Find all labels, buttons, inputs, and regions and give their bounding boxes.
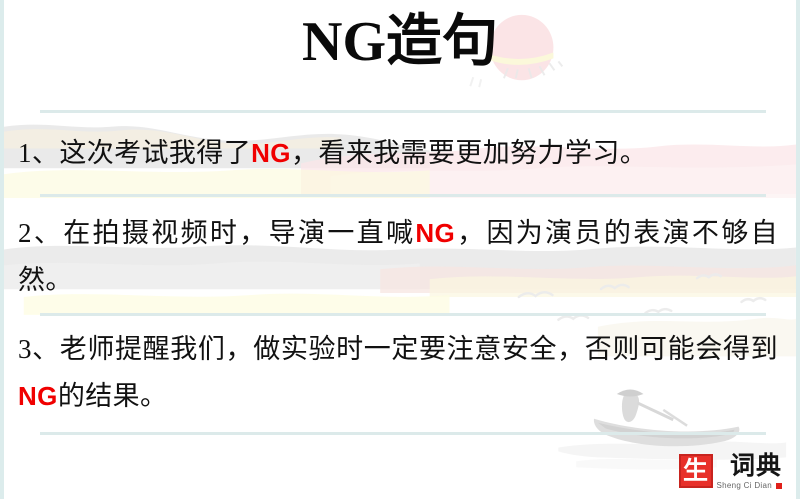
red-square-icon: [776, 483, 782, 489]
sentence-text-after: 的结果。: [58, 381, 168, 411]
page-title: NG造句: [4, 14, 796, 70]
slide-canvas: NG造句 1、这次考试我得了NG，看来我需要更加努力学习。 2、在拍摄视频时，导…: [0, 0, 800, 499]
list-item: 2、在拍摄视频时，导演一直喊NG，因为演员的表演不够自然。: [18, 210, 778, 304]
sentence-text-after: ，看来我需要更加努力学习。: [291, 138, 647, 168]
divider-rule-4: [40, 432, 766, 435]
sentence-text-before: 老师提醒我们，做实验时一定要注意安全，否则可能会得到: [60, 334, 778, 364]
sentence-text-before: 在拍摄视频时，导演一直喊: [63, 218, 415, 248]
brand-name: 词典: [730, 454, 782, 480]
divider-rule-2: [40, 194, 766, 197]
keyword-highlight: NG: [415, 218, 455, 248]
keyword-highlight: NG: [18, 381, 58, 411]
sentence-index: 3、: [18, 334, 60, 364]
divider-rule-1: [40, 110, 766, 113]
list-item: 1、这次考试我得了NG，看来我需要更加努力学习。: [18, 130, 778, 177]
sentence-index: 1、: [18, 138, 59, 168]
brand-logo: 生 词典 Sheng Ci Dian: [679, 454, 783, 491]
sentence-index: 2、: [18, 218, 63, 248]
seal-icon: 生: [679, 454, 713, 488]
list-item: 3、老师提醒我们，做实验时一定要注意安全，否则可能会得到NG的结果。: [18, 326, 778, 420]
brand-text-group: 词典 Sheng Ci Dian: [717, 454, 783, 491]
keyword-highlight: NG: [251, 138, 291, 168]
slide-header: NG造句: [4, 0, 796, 104]
divider-rule-3: [40, 313, 766, 316]
brand-pinyin: Sheng Ci Dian: [717, 481, 773, 491]
sentence-text-before: 这次考试我得了: [59, 138, 251, 168]
brand-subtitle-row: Sheng Ci Dian: [717, 481, 783, 491]
